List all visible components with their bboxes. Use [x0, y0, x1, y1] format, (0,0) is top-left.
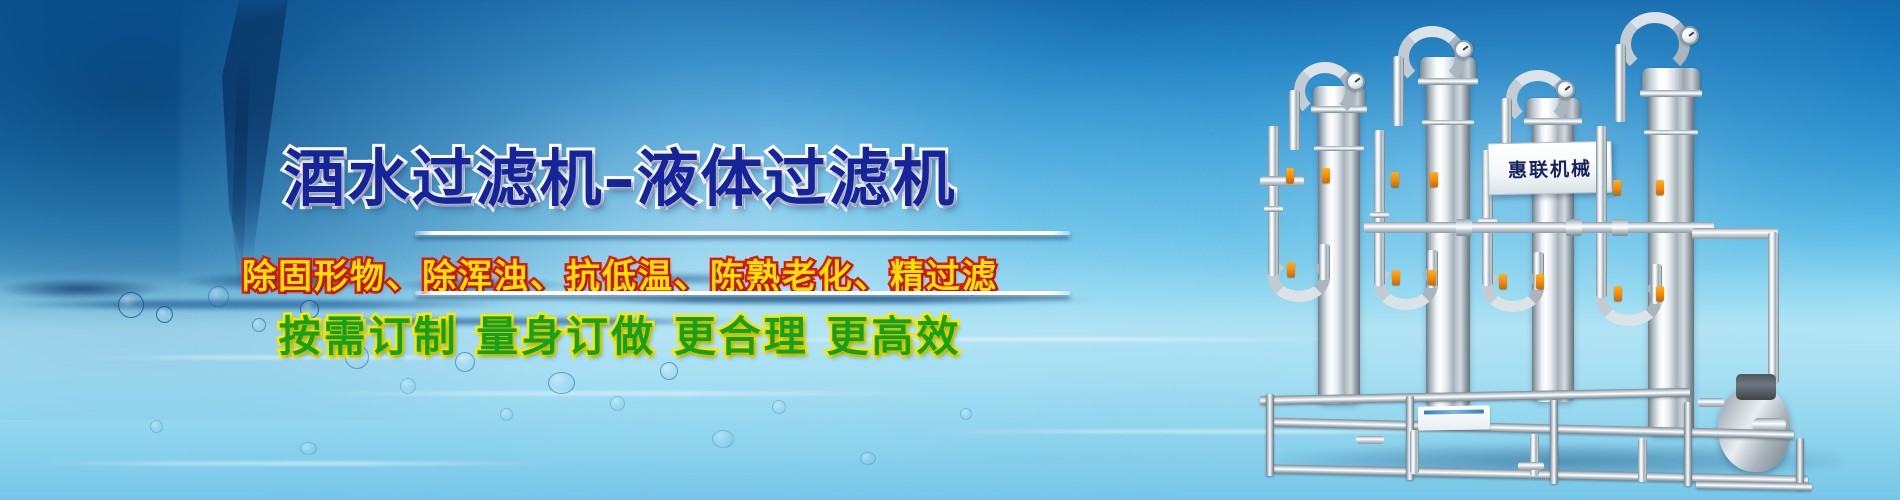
inlet-arch-pipe-1	[1294, 62, 1356, 120]
vessel-clamp	[1314, 146, 1364, 151]
tagline-text: 按需订制 量身订做 更合理 更高效	[0, 303, 1240, 364]
brand-plate-label: 惠联机械	[1508, 154, 1593, 183]
pipe-clamp	[1370, 212, 1389, 218]
valve-handle	[1499, 274, 1507, 289]
downcomer-pipe-2	[1374, 130, 1385, 286]
product-photo-filtration-machine: 惠联机械	[1260, 0, 1900, 500]
equipment-sticker	[1418, 405, 1490, 430]
pump-inlet-port	[1698, 398, 1724, 407]
riser-pipe-4	[1615, 44, 1626, 122]
drain-port	[1356, 436, 1384, 444]
outlet-pipe-vertical	[1768, 232, 1779, 384]
frame-leg	[1550, 400, 1558, 484]
gauge-stem	[1688, 42, 1691, 60]
valve-handle	[1613, 180, 1621, 195]
valve-handle	[1286, 168, 1294, 183]
sticker-stripe	[1424, 409, 1484, 414]
valve-handle	[1656, 180, 1664, 195]
gauge-stem	[1354, 88, 1357, 104]
divider-top	[415, 231, 1070, 235]
pump-motor	[1736, 374, 1776, 400]
manifold-clamp	[1566, 219, 1582, 236]
gauge-stem	[1462, 56, 1465, 72]
valve-handle	[1428, 270, 1436, 285]
outlet-pipe-horizontal	[1692, 228, 1778, 239]
horizontal-manifold-pipe	[1364, 222, 1714, 233]
vessel-clamp	[1644, 130, 1698, 135]
filter-vessel-4	[1648, 88, 1694, 436]
downcomer-pipe-1	[1268, 126, 1279, 276]
gauge-stem	[1564, 96, 1567, 112]
frame-leg	[1684, 402, 1692, 486]
valve-handle	[1536, 274, 1544, 289]
frame-foot-rail	[1696, 481, 1812, 491]
downcomer-pipe-4	[1596, 126, 1607, 298]
vessel-clamp	[1422, 120, 1474, 125]
page-title: 酒水过滤机–液体过滤机	[0, 128, 1240, 218]
riser-pipe-2	[1393, 56, 1404, 126]
frame-leg	[1266, 394, 1274, 476]
product-banner: 酒水过滤机–液体过滤机 除固形物、除浑浊、抗低温、陈熟老化、精过滤 按需订制 量…	[0, 0, 1900, 500]
side-port-1	[1260, 176, 1304, 186]
inlet-arch-pipe-4	[1620, 12, 1690, 76]
vessel-clamp	[1640, 90, 1702, 97]
manifold-clamp	[1456, 219, 1472, 236]
drain-port	[1518, 462, 1544, 470]
valve-handle	[1656, 286, 1664, 301]
brand-plate: 惠联机械	[1487, 141, 1612, 196]
inlet-arch-pipe-3	[1506, 70, 1570, 128]
pipe-clamp	[1264, 206, 1283, 212]
drain-pipe	[1410, 430, 1419, 474]
valve-handle	[1614, 286, 1622, 301]
return-pipe-1	[1319, 244, 1330, 280]
valve-handle	[1287, 262, 1295, 277]
banner-text-block: 酒水过滤机–液体过滤机 除固形物、除浑浊、抗低温、陈熟老化、精过滤 按需订制 量…	[0, 0, 1240, 500]
drain-pipe	[1638, 438, 1647, 482]
valve-handle	[1392, 270, 1400, 285]
valve-handle	[1430, 172, 1438, 187]
manifold-clamp	[1612, 219, 1628, 236]
divider-bottom	[415, 291, 1070, 295]
inlet-arch-pipe-2	[1398, 26, 1466, 88]
valve-handle	[1322, 168, 1330, 183]
riser-pipe-1	[1289, 90, 1300, 150]
valve-handle	[1391, 172, 1399, 187]
filter-vessel-2	[1426, 76, 1470, 408]
